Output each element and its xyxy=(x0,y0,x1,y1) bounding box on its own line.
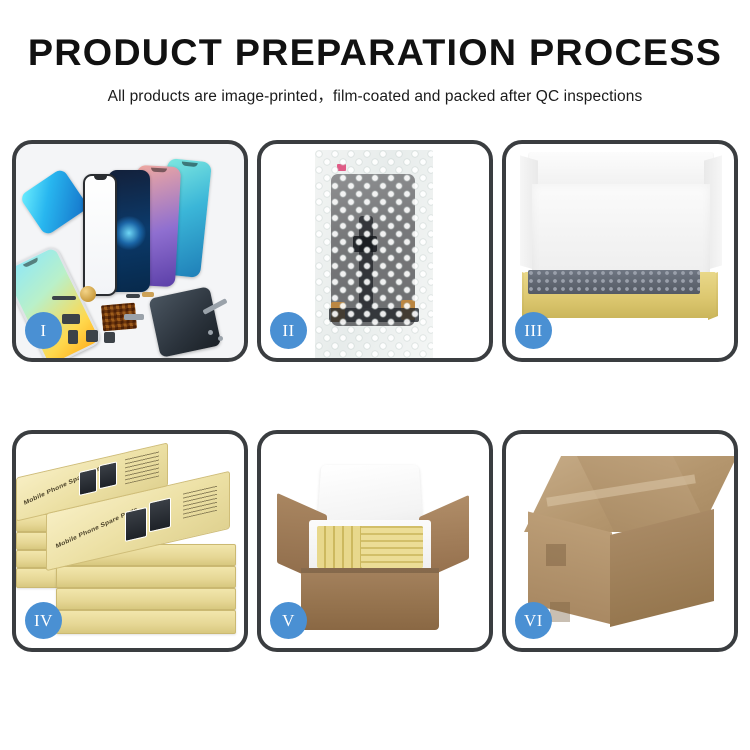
process-steps-grid: I II xyxy=(12,140,738,652)
phone-glass-panel-icon xyxy=(83,174,117,296)
screw-icon xyxy=(208,330,213,335)
speaker-coil-icon xyxy=(80,286,96,302)
packed-product-icon xyxy=(528,270,700,294)
stacked-box-edge xyxy=(56,588,236,610)
process-step-panel-2[interactable]: II xyxy=(257,140,493,362)
page-title: PRODUCT PREPARATION PROCESS xyxy=(0,34,750,73)
charging-port-icon xyxy=(104,332,115,343)
earpiece-mesh-icon xyxy=(52,296,76,300)
packed-yellow-boxes-icon xyxy=(361,526,423,568)
page-header: PRODUCT PREPARATION PROCESS All products… xyxy=(0,0,750,106)
process-step-panel-6[interactable]: VI xyxy=(502,430,738,652)
stacked-box-edge xyxy=(56,610,236,634)
page-subtitle: All products are image-printed，film-coat… xyxy=(0,84,750,106)
box-window-left xyxy=(125,507,147,542)
carton-front-icon xyxy=(301,568,439,630)
stacked-box-edge xyxy=(56,566,236,588)
box-window-right xyxy=(149,497,171,532)
carton-tab-icon xyxy=(546,544,566,566)
antenna-strip-icon xyxy=(124,314,144,320)
box-window-left xyxy=(79,468,97,496)
carton-tab-icon xyxy=(550,602,570,622)
vibrator-icon xyxy=(86,330,98,342)
process-step-panel-1[interactable]: I xyxy=(12,140,248,362)
process-step-panel-5[interactable]: V xyxy=(257,430,493,652)
process-step-panel-3[interactable]: III xyxy=(502,140,738,362)
foam-insert-icon xyxy=(532,184,710,284)
phone-backplate-icon xyxy=(148,286,221,358)
process-step-panel-4[interactable]: Mobile Phone Spare Parts Mobile Phone Sp… xyxy=(12,430,248,652)
step-badge-1: I xyxy=(25,312,62,349)
volume-button-icon xyxy=(126,294,140,298)
camera-module-icon xyxy=(62,314,80,324)
step-badge-2: II xyxy=(270,312,307,349)
bubble-wrap-bag-icon xyxy=(315,150,433,358)
sim-tray-icon xyxy=(68,330,78,344)
box-spec-text-lines xyxy=(125,451,159,485)
box-spec-text-lines xyxy=(183,485,217,519)
product-preparation-process-page: PRODUCT PREPARATION PROCESS All products… xyxy=(0,0,750,750)
flex-cable-icon xyxy=(142,292,154,297)
step-badge-6: VI xyxy=(515,602,552,639)
step-badge-4: IV xyxy=(25,602,62,639)
screw-icon xyxy=(218,336,223,341)
bubble-texture-overlay xyxy=(315,150,433,358)
step-badge-3: III xyxy=(515,312,552,349)
phone-back-cover-icon xyxy=(19,168,89,237)
step-badge-5: V xyxy=(270,602,307,639)
box-window-right xyxy=(99,461,117,489)
